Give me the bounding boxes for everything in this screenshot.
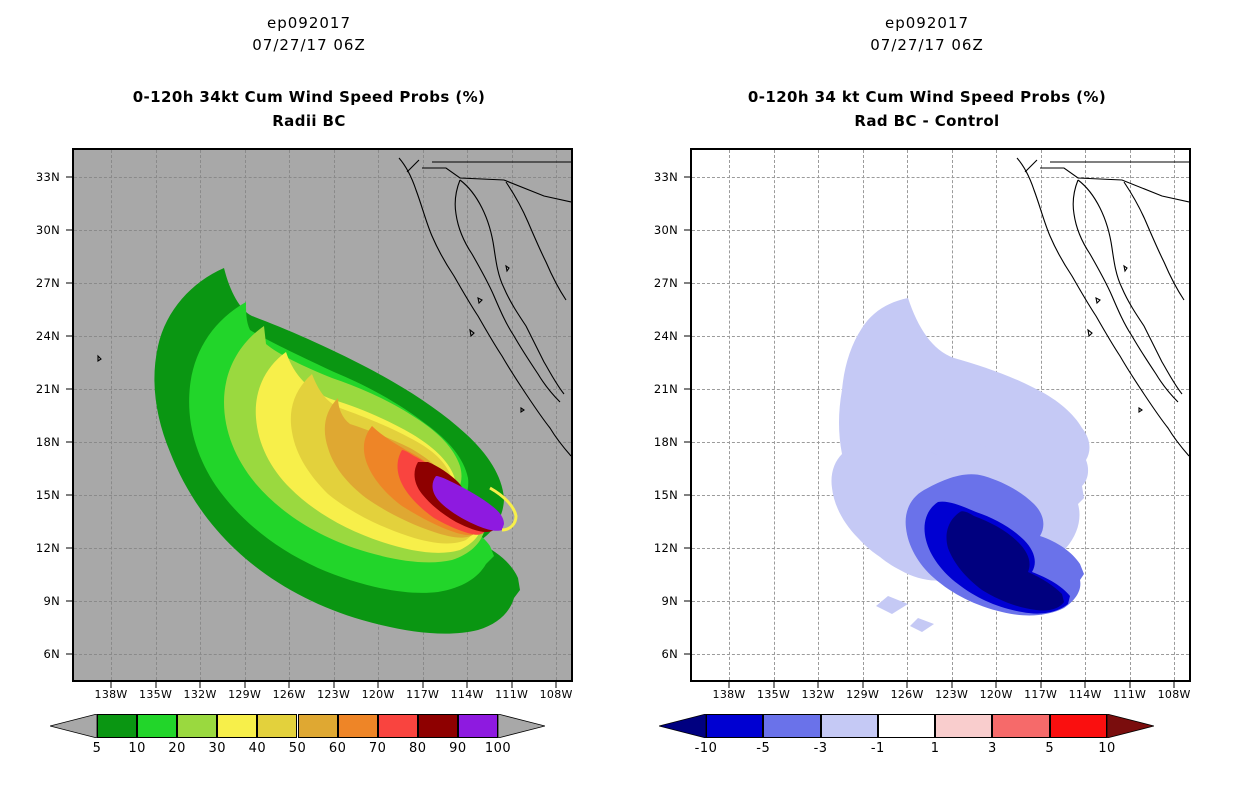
storm-id-left: ep092017 <box>0 14 618 32</box>
colorbar-segment-5[interactable] <box>298 714 338 738</box>
colorbar-segment-0[interactable] <box>97 714 137 738</box>
lat-tickmark <box>684 441 690 442</box>
colorbar-low-cap-right <box>659 714 706 738</box>
lon-tick-126W: 126W <box>891 688 924 701</box>
lon-tick-111W: 111W <box>1113 688 1146 701</box>
colorbar-label-minus5: -5 <box>756 741 770 756</box>
lon-tickmark <box>244 682 245 688</box>
lon-tick-135W: 135W <box>757 688 790 701</box>
lon-tick-117W: 117W <box>1024 688 1057 701</box>
lon-tickmark <box>511 682 512 688</box>
colorbar-segment-6[interactable] <box>338 714 378 738</box>
colorbar-label-minus3: -3 <box>814 741 828 756</box>
lat-tick-24N: 24N <box>654 329 678 343</box>
colorbar-label-70: 70 <box>369 741 387 756</box>
colorbar-label-10: 10 <box>1098 741 1116 756</box>
colorbar-segment-1[interactable] <box>763 714 820 738</box>
panel-title-right: 0-120h 34 kt Cum Wind Speed Probs (%) <box>618 88 1236 106</box>
lat-tick-30N: 30N <box>654 223 678 237</box>
lat-tickmark <box>684 229 690 230</box>
lon-tickmark <box>289 682 290 688</box>
lon-tick-123W: 123W <box>935 688 968 701</box>
lon-tickmark <box>951 682 952 688</box>
lat-tickmark <box>684 600 690 601</box>
lat-tick-21N: 21N <box>654 382 678 396</box>
colorbar-segment-8[interactable] <box>418 714 458 738</box>
lon-tick-126W: 126W <box>273 688 306 701</box>
lon-tick-123W: 123W <box>317 688 350 701</box>
colorbar-segment-2[interactable] <box>821 714 878 738</box>
lat-tick-6N: 6N <box>43 647 60 661</box>
lon-tickmark <box>200 682 201 688</box>
lon-tickmark <box>1040 682 1041 688</box>
colorbar-segment-4[interactable] <box>935 714 992 738</box>
lon-tick-132W: 132W <box>802 688 835 701</box>
lon-tick-129W: 129W <box>846 688 879 701</box>
lat-tick-6N: 6N <box>661 647 678 661</box>
lat-tickmark <box>684 388 690 389</box>
lat-tick-33N: 33N <box>654 170 678 184</box>
lon-tickmark <box>1129 682 1130 688</box>
lat-tickmark <box>66 388 72 389</box>
colorbar-segment-3[interactable] <box>217 714 257 738</box>
lat-tick-18N: 18N <box>654 435 678 449</box>
panel-subtitle-left: Radii BC <box>0 112 618 130</box>
lon-tick-120W: 120W <box>362 688 395 701</box>
lat-tickmark <box>66 547 72 548</box>
lat-tick-24N: 24N <box>36 329 60 343</box>
coastline-overlay-right <box>692 150 1189 680</box>
colorbar-label-80: 80 <box>409 741 427 756</box>
probability-colorbar[interactable]: 5102030405060708090100 <box>97 714 498 738</box>
lat-tick-15N: 15N <box>36 488 60 502</box>
colorbar-label-3: 3 <box>988 741 997 756</box>
colorbar-segment-1[interactable] <box>137 714 177 738</box>
lat-tickmark <box>66 653 72 654</box>
colorbar-segment-0[interactable] <box>706 714 763 738</box>
colorbar-label-minus1: -1 <box>871 741 885 756</box>
lat-tick-15N: 15N <box>654 488 678 502</box>
map-plot-difference[interactable] <box>690 148 1191 682</box>
lat-tick-9N: 9N <box>661 594 678 608</box>
panel-subtitle-right: Rad BC - Control <box>618 112 1236 130</box>
lat-tickmark <box>684 335 690 336</box>
lon-tickmark <box>862 682 863 688</box>
lat-tickmark <box>684 282 690 283</box>
lon-tickmark <box>729 682 730 688</box>
lon-tick-117W: 117W <box>406 688 439 701</box>
colorbar-segment-7[interactable] <box>378 714 418 738</box>
lon-tick-138W: 138W <box>713 688 746 701</box>
lon-tick-129W: 129W <box>228 688 261 701</box>
lat-tickmark <box>66 494 72 495</box>
lon-tickmark <box>818 682 819 688</box>
lon-tickmark <box>1085 682 1086 688</box>
colorbar-label-minus10: -10 <box>695 741 718 756</box>
lon-tickmark <box>111 682 112 688</box>
lat-tickmark <box>684 547 690 548</box>
colorbar-label-30: 30 <box>209 741 227 756</box>
colorbar-low-cap-left <box>50 714 97 738</box>
panel-rad-bc-minus-control: ep092017 07/27/17 06Z 0-120h 34 kt Cum W… <box>618 0 1236 800</box>
storm-id-right: ep092017 <box>618 14 1236 32</box>
lat-tick-33N: 33N <box>36 170 60 184</box>
lat-tickmark <box>684 653 690 654</box>
datetime-left: 07/27/17 06Z <box>0 36 618 54</box>
colorbar-high-cap-left <box>498 714 545 738</box>
lon-tick-120W: 120W <box>980 688 1013 701</box>
lon-tickmark <box>155 682 156 688</box>
lon-tickmark <box>1174 682 1175 688</box>
colorbar-segment-2[interactable] <box>177 714 217 738</box>
lon-tick-114W: 114W <box>451 688 484 701</box>
colorbar-label-5: 5 <box>93 741 102 756</box>
lon-tickmark <box>996 682 997 688</box>
lat-tick-9N: 9N <box>43 594 60 608</box>
colorbar-label-5: 5 <box>1045 741 1054 756</box>
lon-tickmark <box>773 682 774 688</box>
colorbar-high-cap-right <box>1107 714 1154 738</box>
lon-tick-111W: 111W <box>495 688 528 701</box>
colorbar-segment-3[interactable] <box>878 714 935 738</box>
lat-tickmark <box>684 494 690 495</box>
lon-tick-114W: 114W <box>1069 688 1102 701</box>
colorbar-label-10: 10 <box>128 741 146 756</box>
lat-tick-18N: 18N <box>36 435 60 449</box>
colorbar-label-60: 60 <box>329 741 347 756</box>
lat-tickmark <box>66 282 72 283</box>
colorbar-label-50: 50 <box>289 741 307 756</box>
panel-title-left: 0-120h 34kt Cum Wind Speed Probs (%) <box>0 88 618 106</box>
colorbar-label-20: 20 <box>168 741 186 756</box>
colorbar-segment-6[interactable] <box>1050 714 1107 738</box>
map-plot-radii-bc[interactable] <box>72 148 573 682</box>
colorbar-label-90: 90 <box>449 741 467 756</box>
lon-tickmark <box>907 682 908 688</box>
lat-tick-27N: 27N <box>36 276 60 290</box>
lon-tickmark <box>467 682 468 688</box>
lat-tick-21N: 21N <box>36 382 60 396</box>
lon-tick-132W: 132W <box>184 688 217 701</box>
lon-tickmark <box>333 682 334 688</box>
coastline-overlay-left <box>74 150 571 680</box>
lat-tickmark <box>66 600 72 601</box>
lat-tickmark <box>66 335 72 336</box>
panel-radii-bc: ep092017 07/27/17 06Z 0-120h 34kt Cum Wi… <box>0 0 618 800</box>
difference-colorbar[interactable]: -10-5-3-113510 <box>706 714 1107 738</box>
colorbar-label-40: 40 <box>249 741 267 756</box>
lon-tick-108W: 108W <box>1158 688 1191 701</box>
colorbar-segment-9[interactable] <box>458 714 498 738</box>
lon-tickmark <box>378 682 379 688</box>
lat-tick-27N: 27N <box>654 276 678 290</box>
lon-tick-108W: 108W <box>540 688 573 701</box>
lat-tick-12N: 12N <box>36 541 60 555</box>
lon-tick-138W: 138W <box>95 688 128 701</box>
datetime-right: 07/27/17 06Z <box>618 36 1236 54</box>
lon-tickmark <box>422 682 423 688</box>
lat-tick-30N: 30N <box>36 223 60 237</box>
lat-tickmark <box>66 229 72 230</box>
lon-tickmark <box>556 682 557 688</box>
lon-tick-135W: 135W <box>139 688 172 701</box>
lat-tickmark <box>66 441 72 442</box>
lat-tickmark <box>66 176 72 177</box>
lat-tick-12N: 12N <box>654 541 678 555</box>
colorbar-label-100: 100 <box>485 741 511 756</box>
colorbar-segment-5[interactable] <box>992 714 1049 738</box>
colorbar-segment-4[interactable] <box>257 714 297 738</box>
colorbar-label-1: 1 <box>931 741 940 756</box>
lat-tickmark <box>684 176 690 177</box>
